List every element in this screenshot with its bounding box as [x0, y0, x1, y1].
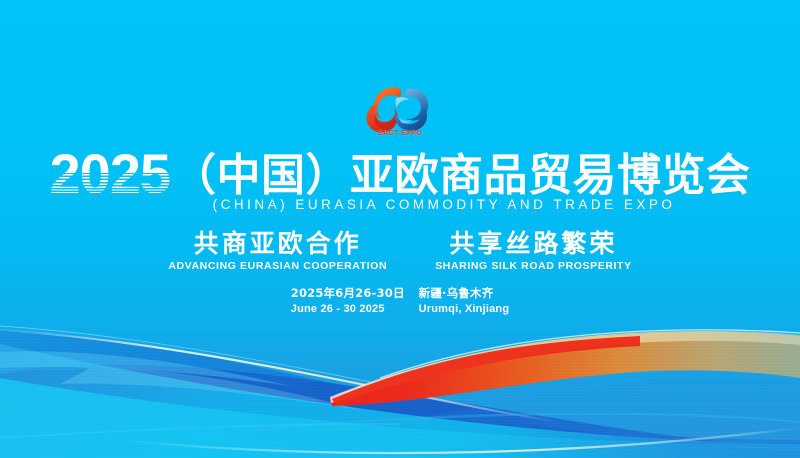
slogan-right-chinese: 共享丝路繁荣	[435, 231, 631, 257]
event-date: 2025年6月26-30日 June 26 - 30 2025	[291, 286, 405, 316]
title-chinese: （中国）亚欧商品贸易博览会	[172, 154, 751, 198]
title-year: 2025	[49, 148, 172, 200]
slogan-group: 共商亚欧合作 ADVANCING EURASIAN COOPERATION 共享…	[0, 231, 800, 272]
slogan-left-chinese: 共商亚欧合作	[168, 231, 387, 257]
logo-container: EACT EXPO	[0, 84, 800, 136]
main-title: 2025 （中国）亚欧商品贸易博览会	[0, 148, 800, 200]
slogan-right-english: SHARING SILK ROAD PROSPERITY	[435, 260, 631, 272]
event-date-chinese: 2025年6月26-30日	[291, 286, 405, 302]
event-location-chinese: 新疆·乌鲁木齐	[419, 286, 510, 302]
event-date-english: June 26 - 30 2025	[291, 302, 405, 317]
logo-wordmark: EACT EXPO	[363, 130, 437, 137]
event-info: 2025年6月26-30日 June 26 - 30 2025 新疆·乌鲁木齐 …	[0, 286, 800, 316]
event-location-english: Urumqi, Xinjiang	[419, 302, 510, 317]
slogan-right: 共享丝路繁荣 SHARING SILK ROAD PROSPERITY	[435, 231, 631, 272]
title-english: (CHINA) EURASIA COMMODITY AND TRADE EXPO	[0, 197, 800, 212]
slogan-left-english: ADVANCING EURASIAN COOPERATION	[168, 260, 387, 272]
slogan-left: 共商亚欧合作 ADVANCING EURASIAN COOPERATION	[168, 231, 387, 272]
event-location: 新疆·乌鲁木齐 Urumqi, Xinjiang	[419, 286, 510, 316]
eact-expo-logo: EACT EXPO	[363, 84, 437, 136]
expo-banner: EACT EXPO 2025 （中国）亚欧商品贸易博览会 (CHINA) EUR…	[0, 0, 800, 458]
logo-mark-icon	[363, 84, 437, 136]
